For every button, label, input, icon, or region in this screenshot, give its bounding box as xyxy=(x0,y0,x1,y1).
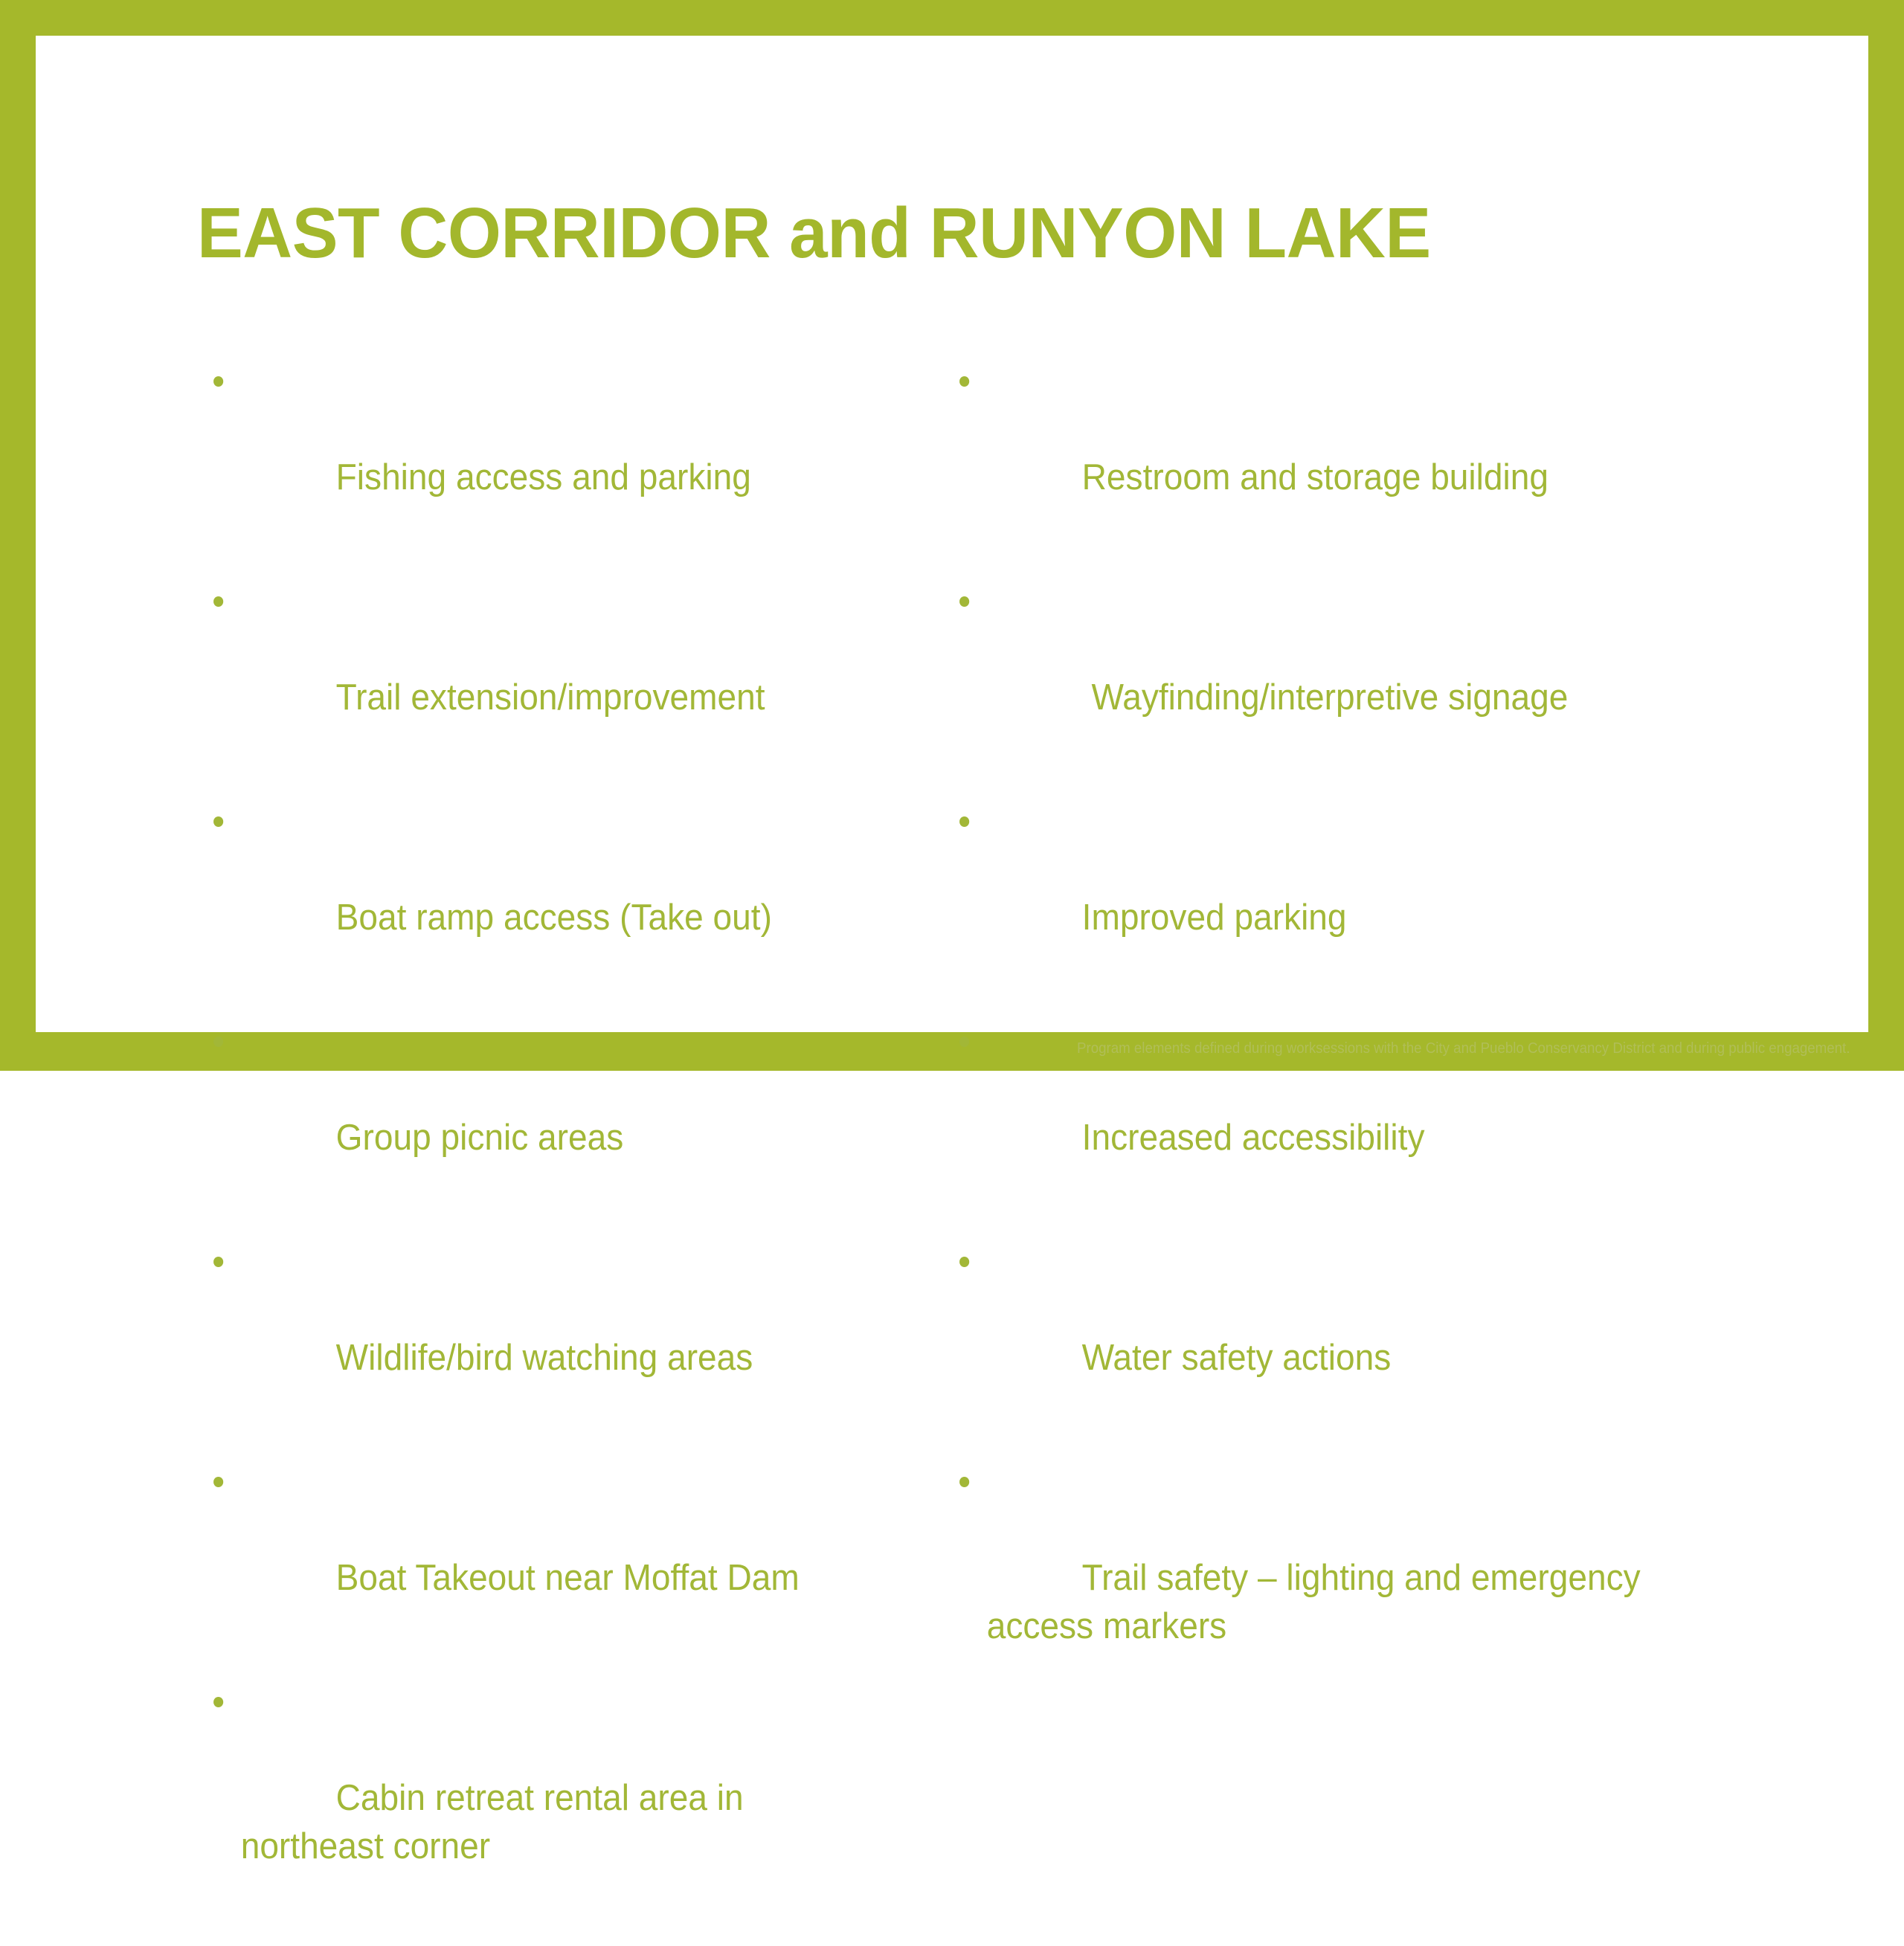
list-item-label: Cabin retreat rental area in northeast c… xyxy=(241,1778,753,1866)
bullet-dot-icon xyxy=(959,816,969,827)
page-title: EAST CORRIDOR and RUNYON LAKE xyxy=(197,195,1705,272)
list-item-label: Boat ramp access (Take out) xyxy=(336,898,772,938)
list-item: Group picnic areas xyxy=(202,1017,873,1211)
list-item-label: Restroom and storage building xyxy=(1082,457,1548,497)
list-item-label: Water safety actions xyxy=(1082,1338,1392,1378)
list-item: Improved parking xyxy=(948,797,1662,990)
list-item: Boat ramp access (Take out) xyxy=(202,797,873,990)
list-item-label: Fishing access and parking xyxy=(336,457,751,497)
list-item-label: Boat Takeout near Moffat Dam xyxy=(336,1558,800,1598)
bullet-dot-icon xyxy=(213,376,223,387)
bullet-dot-icon xyxy=(959,1037,969,1047)
list-item-label: Increased accessibility xyxy=(1082,1118,1425,1158)
bullet-dot-icon xyxy=(213,1477,223,1487)
bullet-dot-icon xyxy=(959,376,969,387)
list-item-label: Trail extension/improvement xyxy=(336,677,765,718)
footer-note: Program elements defined during worksess… xyxy=(1077,1038,1850,1059)
list-item: Water safety actions xyxy=(948,1237,1662,1431)
bullet-dot-icon xyxy=(213,816,223,827)
list-item-label: Group picnic areas xyxy=(336,1118,624,1158)
slide-root: EAST CORRIDOR and RUNYON LAKE Fishing ac… xyxy=(0,0,1904,1071)
list-item: Cabin retreat rental area in northeast c… xyxy=(202,1678,873,1919)
list-item: Wildlife/bird watching areas xyxy=(202,1237,873,1431)
list-item: Trail safety – lighting and emergency ac… xyxy=(948,1457,1662,1699)
list-item: Fishing access and parking xyxy=(202,357,873,550)
list-item: Wayfinding/interpretive signage xyxy=(948,577,1662,770)
list-item: Restroom and storage building xyxy=(948,357,1662,550)
bullet-dot-icon xyxy=(213,1037,223,1047)
bullet-dot-icon xyxy=(213,1697,223,1707)
bullet-dot-icon xyxy=(959,596,969,607)
slide-content-panel: EAST CORRIDOR and RUNYON LAKE Fishing ac… xyxy=(36,36,1868,1032)
list-item: Trail extension/improvement xyxy=(202,577,873,770)
list-item: Boat Takeout near Moffat Dam xyxy=(202,1457,873,1651)
bullet-column-left: Fishing access and parking Trail extensi… xyxy=(202,357,916,1946)
bullet-dot-icon xyxy=(959,1257,969,1267)
bullet-dot-icon xyxy=(213,1257,223,1267)
bullet-dot-icon xyxy=(959,1477,969,1487)
list-item-label: Wayfinding/interpretive signage xyxy=(1082,677,1569,718)
list-item-label: Improved parking xyxy=(1082,898,1347,938)
list-item-label: Wildlife/bird watching areas xyxy=(336,1338,753,1378)
bullet-dot-icon xyxy=(213,596,223,607)
list-item-label: Trail safety – lighting and emergency ac… xyxy=(987,1558,1650,1646)
